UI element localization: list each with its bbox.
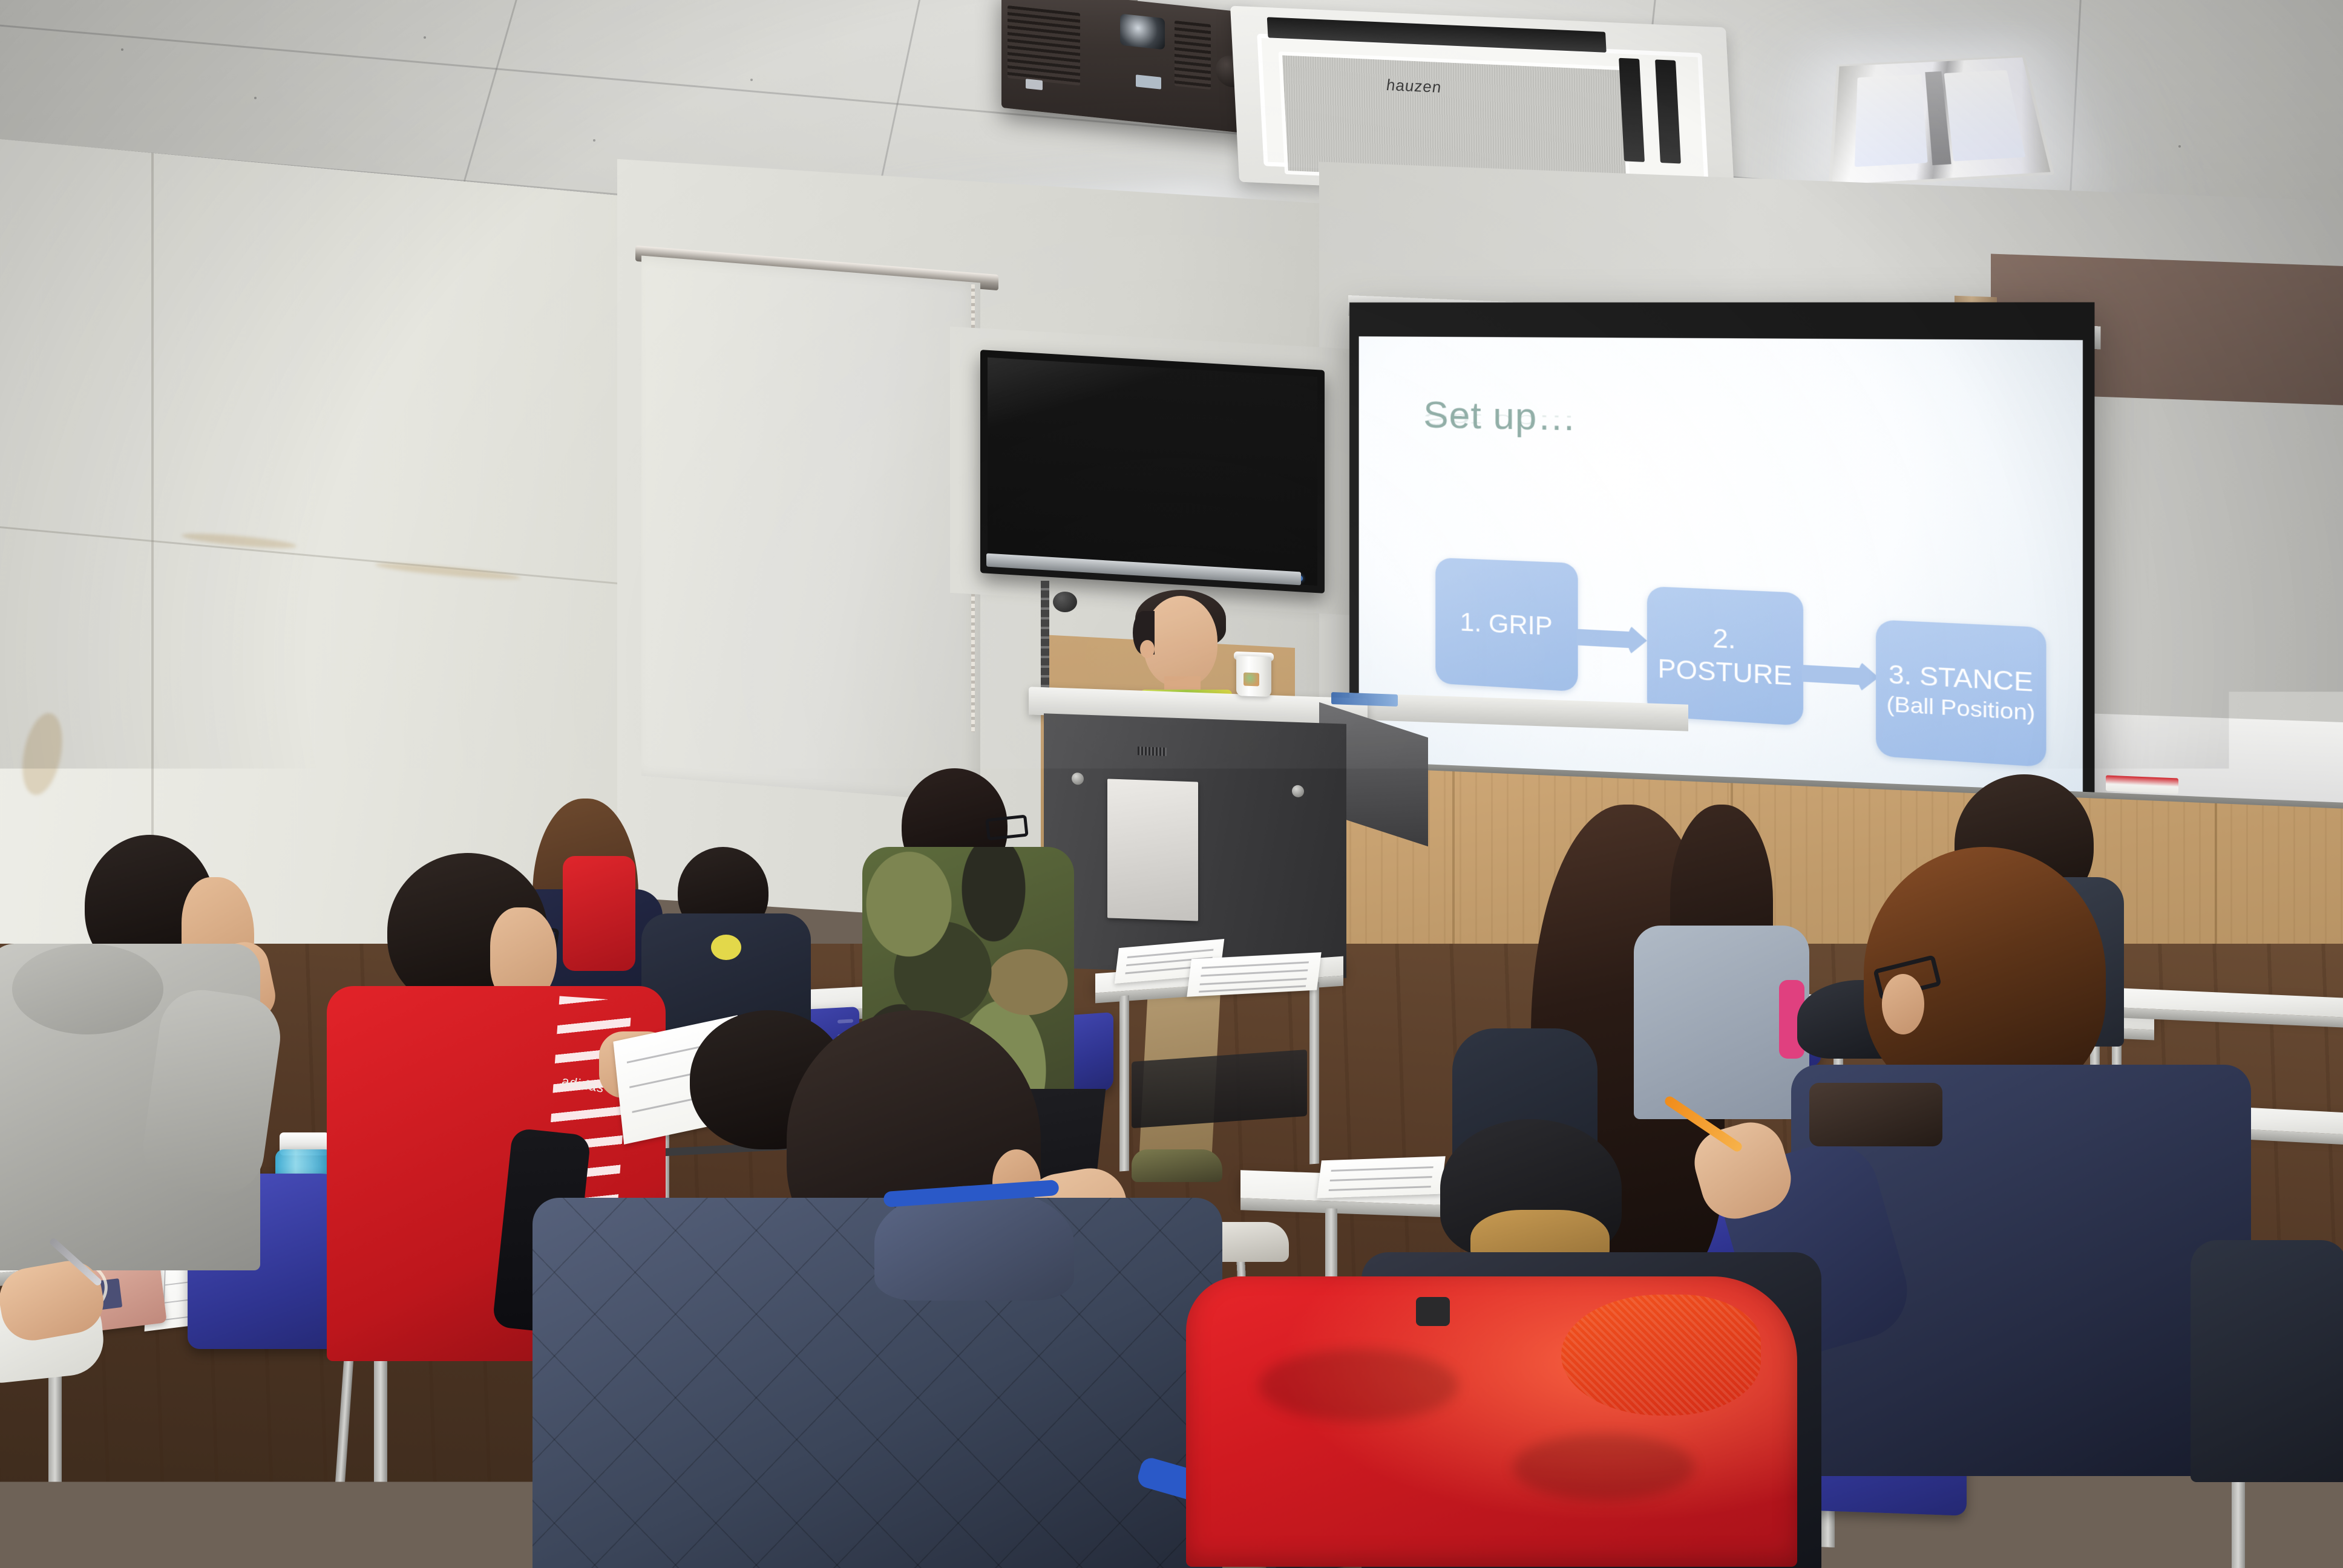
glasses-icon	[985, 815, 1028, 841]
hoodie-hood	[12, 944, 163, 1034]
pouch-dark[interactable]	[1809, 1083, 1942, 1146]
presenter-ear	[1140, 640, 1155, 658]
podium-marker[interactable]	[1331, 692, 1398, 707]
whiteboard-eraser[interactable]	[2106, 775, 2178, 794]
slide-title-reflection: Set up…	[1423, 409, 1577, 431]
student-vest	[563, 856, 635, 971]
slide-step-label: 1. GRIP	[1460, 606, 1553, 642]
slide-arrow-2	[1802, 656, 1879, 694]
red-jacket-on-chair[interactable]	[1186, 1276, 1797, 1567]
slide-arrow-1	[1577, 621, 1647, 657]
presenter-shoe	[1132, 1149, 1222, 1182]
student-torso	[2191, 1240, 2343, 1482]
fluorescent-ceiling-light	[1828, 56, 2054, 188]
slide-step-label: 2. POSTURE	[1647, 619, 1803, 693]
student-ear	[1882, 974, 1924, 1034]
student-torso	[2142, 998, 2343, 1174]
microphone-head	[1053, 592, 1077, 612]
slide-step-box-1: 1. GRIP	[1435, 558, 1578, 692]
classroom-photo: hauzen Set up… Set up… 1. GRIP	[0, 0, 2343, 1568]
worksheet[interactable]	[1187, 952, 1321, 997]
coffee-cup-graphic	[1244, 673, 1259, 687]
slide-step-box-3: 3. STANCE (Ball Position)	[1876, 619, 2046, 767]
presenter-head	[1144, 596, 1217, 687]
window-roller-blind[interactable]	[641, 255, 980, 803]
projected-slide: Set up… Set up… 1. GRIP 2. POSTURE 3. ST…	[1359, 336, 2083, 832]
podium-panel	[1107, 779, 1198, 921]
student-tshirt-logo	[711, 935, 741, 960]
podium-vent	[1138, 746, 1167, 756]
worksheet[interactable]	[1317, 1156, 1446, 1198]
ac-brand-label: hauzen	[1386, 76, 1442, 97]
